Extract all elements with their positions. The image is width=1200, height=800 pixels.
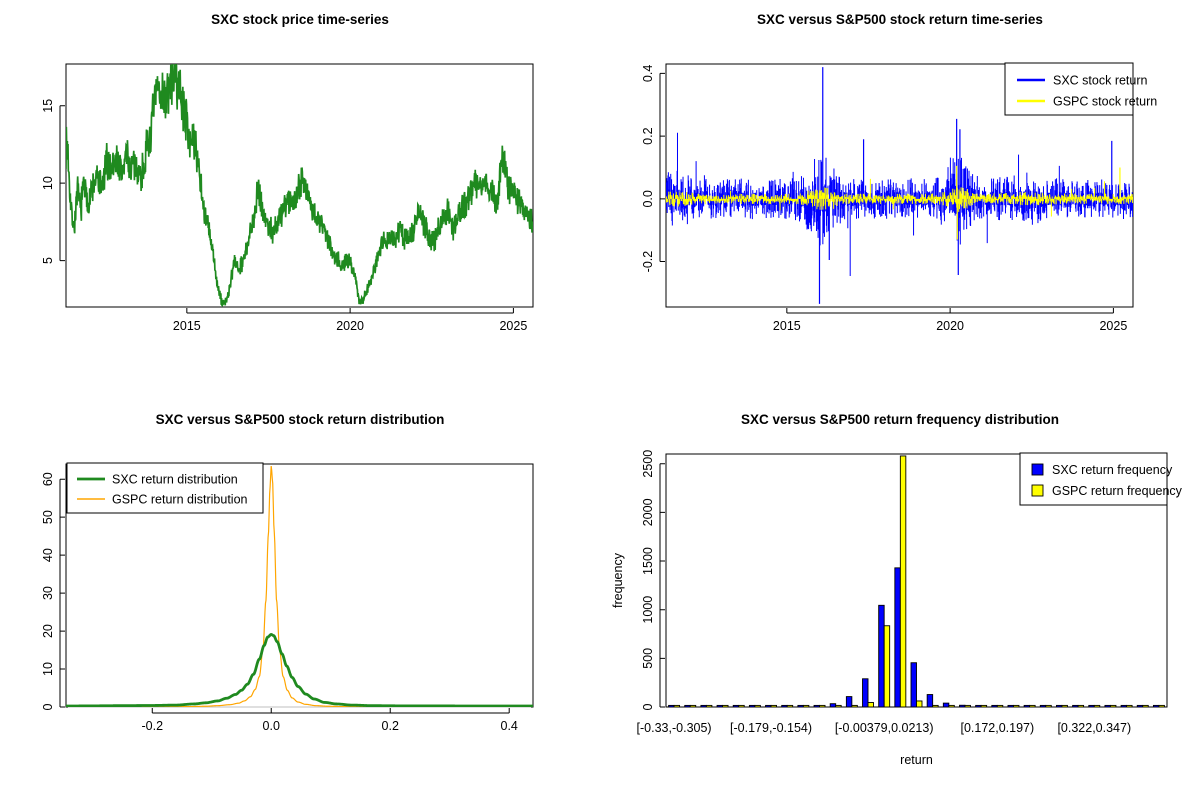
bar-sxc bbox=[1105, 705, 1110, 707]
bar-gspc bbox=[1110, 705, 1115, 707]
bar-gspc bbox=[836, 705, 841, 707]
bar-gspc bbox=[771, 705, 776, 707]
bar-gspc bbox=[949, 705, 954, 707]
bar-sxc bbox=[943, 703, 948, 707]
bar-sxc bbox=[717, 705, 722, 707]
bar-sxc bbox=[766, 705, 771, 707]
bar-sxc bbox=[1040, 705, 1045, 707]
legend-label-0: SXC return distribution bbox=[112, 473, 238, 487]
bar-gspc bbox=[755, 705, 760, 707]
bar-sxc bbox=[895, 568, 900, 707]
x-tick-label: [0.172,0.197) bbox=[960, 721, 1034, 735]
plot-sxc-price: 51015201520202025 bbox=[0, 0, 600, 400]
x-tick-label: 2015 bbox=[773, 319, 801, 333]
bar-gspc bbox=[997, 705, 1002, 707]
bar-sxc bbox=[911, 663, 916, 707]
bar-gspc bbox=[739, 705, 744, 707]
bar-sxc bbox=[976, 705, 981, 707]
bar-gspc bbox=[1062, 705, 1067, 707]
y-tick-label: 30 bbox=[41, 586, 55, 600]
bar-sxc bbox=[1056, 705, 1061, 707]
bar-sxc bbox=[992, 705, 997, 707]
y-tick-label: 5 bbox=[41, 257, 55, 264]
bar-sxc bbox=[685, 705, 690, 707]
x-axis-title: return bbox=[900, 753, 933, 767]
y-axis-title: frequency bbox=[611, 552, 625, 608]
figure-grid: SXC stock price time-series 510152015202… bbox=[0, 0, 1200, 800]
bar-sxc bbox=[1089, 705, 1094, 707]
bar-gspc bbox=[1013, 705, 1018, 707]
panel-return-density: SXC versus S&P500 stock return distribut… bbox=[0, 400, 600, 800]
x-axis bbox=[187, 308, 514, 313]
y-tick-label: 0 bbox=[41, 703, 55, 710]
bar-sxc bbox=[1073, 705, 1078, 707]
plot-return-frequency: 05001000150020002500frequency[-0.33,-0.3… bbox=[600, 400, 1200, 800]
x-tick-label: 0.2 bbox=[382, 719, 399, 733]
x-axis bbox=[152, 708, 509, 713]
bar-gspc bbox=[868, 703, 873, 707]
bar-gspc bbox=[723, 705, 728, 707]
bar-sxc bbox=[959, 705, 964, 707]
x-tick-label: -0.2 bbox=[141, 719, 163, 733]
x-tick-label: 2020 bbox=[336, 319, 364, 333]
bar-sxc bbox=[863, 679, 868, 707]
bar-gspc bbox=[1094, 705, 1099, 707]
x-tick-label: [-0.179,-0.154) bbox=[730, 721, 812, 735]
x-axis bbox=[787, 308, 1114, 313]
bar-gspc bbox=[690, 705, 695, 707]
x-tick-label: 2015 bbox=[173, 319, 201, 333]
panel-sxc-price-timeseries: SXC stock price time-series 510152015202… bbox=[0, 0, 600, 400]
y-tick-label: -0.2 bbox=[641, 251, 655, 273]
x-tick-label: 0.0 bbox=[263, 719, 280, 733]
y-tick-label: 60 bbox=[41, 472, 55, 486]
y-tick-label: 0.2 bbox=[641, 127, 655, 144]
bar-sxc bbox=[1137, 705, 1142, 707]
bar-sxc bbox=[927, 695, 932, 707]
bar-gspc bbox=[674, 705, 679, 707]
y-axis bbox=[660, 73, 665, 261]
bar-gspc bbox=[803, 705, 808, 707]
bar-gspc bbox=[1030, 705, 1035, 707]
y-tick-label: 2500 bbox=[641, 450, 655, 478]
bar-sxc bbox=[814, 705, 819, 707]
y-axis bbox=[60, 479, 65, 707]
y-axis bbox=[60, 106, 65, 261]
x-tick-label: 2025 bbox=[1099, 319, 1127, 333]
bar-sxc bbox=[1024, 705, 1029, 707]
plot-return-timeseries: -0.20.00.20.4201520202025SXC stock retur… bbox=[600, 0, 1200, 400]
bar-gspc bbox=[884, 626, 889, 707]
y-tick-label: 500 bbox=[641, 648, 655, 669]
bar-sxc bbox=[846, 697, 851, 707]
y-tick-label: 2000 bbox=[641, 498, 655, 526]
bar-gspc bbox=[1159, 705, 1164, 707]
x-tick-label: [-0.33,-0.305) bbox=[637, 721, 712, 735]
bar-sxc bbox=[669, 705, 674, 707]
bar-gspc bbox=[900, 456, 905, 707]
y-tick-label: 1000 bbox=[641, 596, 655, 624]
y-tick-label: 40 bbox=[41, 548, 55, 562]
y-tick-label: 0.4 bbox=[641, 65, 655, 82]
legend-label-0: SXC return frequency bbox=[1052, 463, 1173, 477]
y-axis bbox=[660, 464, 665, 707]
sxc-return-spikes bbox=[666, 133, 1133, 276]
bar-sxc bbox=[1153, 705, 1158, 707]
bar-gspc bbox=[706, 705, 711, 707]
bar-gspc bbox=[820, 705, 825, 707]
bar-sxc bbox=[782, 705, 787, 707]
panel-return-frequency: SXC versus S&P500 return frequency distr… bbox=[600, 400, 1200, 800]
y-tick-label: 1500 bbox=[641, 547, 655, 575]
bar-gspc bbox=[787, 705, 792, 707]
bar-gspc bbox=[1143, 705, 1148, 707]
bar-sxc bbox=[798, 705, 803, 707]
bar-gspc bbox=[1078, 705, 1083, 707]
legend-swatch-0 bbox=[1032, 464, 1043, 475]
x-tick-label: [-0.00379,0.0213) bbox=[835, 721, 934, 735]
bar-sxc bbox=[1121, 705, 1126, 707]
y-tick-label: 15 bbox=[41, 99, 55, 113]
legend-swatch-1 bbox=[1032, 485, 1043, 496]
y-tick-label: 50 bbox=[41, 510, 55, 524]
y-tick-label: 10 bbox=[41, 176, 55, 190]
panel-sxc-gspc-return-timeseries: SXC versus S&P500 stock return time-seri… bbox=[600, 0, 1200, 400]
bar-gspc bbox=[1046, 705, 1051, 707]
y-tick-label: 0.0 bbox=[641, 190, 655, 207]
bar-gspc bbox=[917, 701, 922, 707]
x-tick-label: 2025 bbox=[499, 319, 527, 333]
y-tick-label: 10 bbox=[41, 662, 55, 676]
plot-return-density: 0102030405060-0.20.00.20.4SXC return dis… bbox=[0, 400, 600, 800]
bar-gspc bbox=[933, 705, 938, 707]
legend-label-1: GSPC return distribution bbox=[112, 493, 248, 507]
legend-label-0: SXC stock return bbox=[1053, 74, 1148, 88]
x-tick-label: [0.322,0.347) bbox=[1057, 721, 1131, 735]
bar-sxc bbox=[879, 605, 884, 707]
legend-label-1: GSPC stock return bbox=[1053, 95, 1157, 109]
bar-gspc bbox=[981, 705, 986, 707]
legend-label-1: GSPC return frequency bbox=[1052, 484, 1183, 498]
y-tick-label: 20 bbox=[41, 624, 55, 638]
bar-gspc bbox=[965, 705, 970, 707]
bar-sxc bbox=[701, 705, 706, 707]
x-tick-label: 2020 bbox=[936, 319, 964, 333]
bar-sxc bbox=[1008, 705, 1013, 707]
x-tick-label: 0.4 bbox=[501, 719, 518, 733]
sxc-price-line bbox=[66, 65, 533, 306]
bar-sxc bbox=[733, 705, 738, 707]
bar-gspc bbox=[852, 705, 857, 707]
bar-sxc bbox=[749, 705, 754, 707]
bar-gspc bbox=[1127, 705, 1132, 707]
density-sxc bbox=[66, 634, 533, 706]
y-tick-label: 0 bbox=[641, 703, 655, 710]
bar-sxc bbox=[830, 704, 835, 707]
